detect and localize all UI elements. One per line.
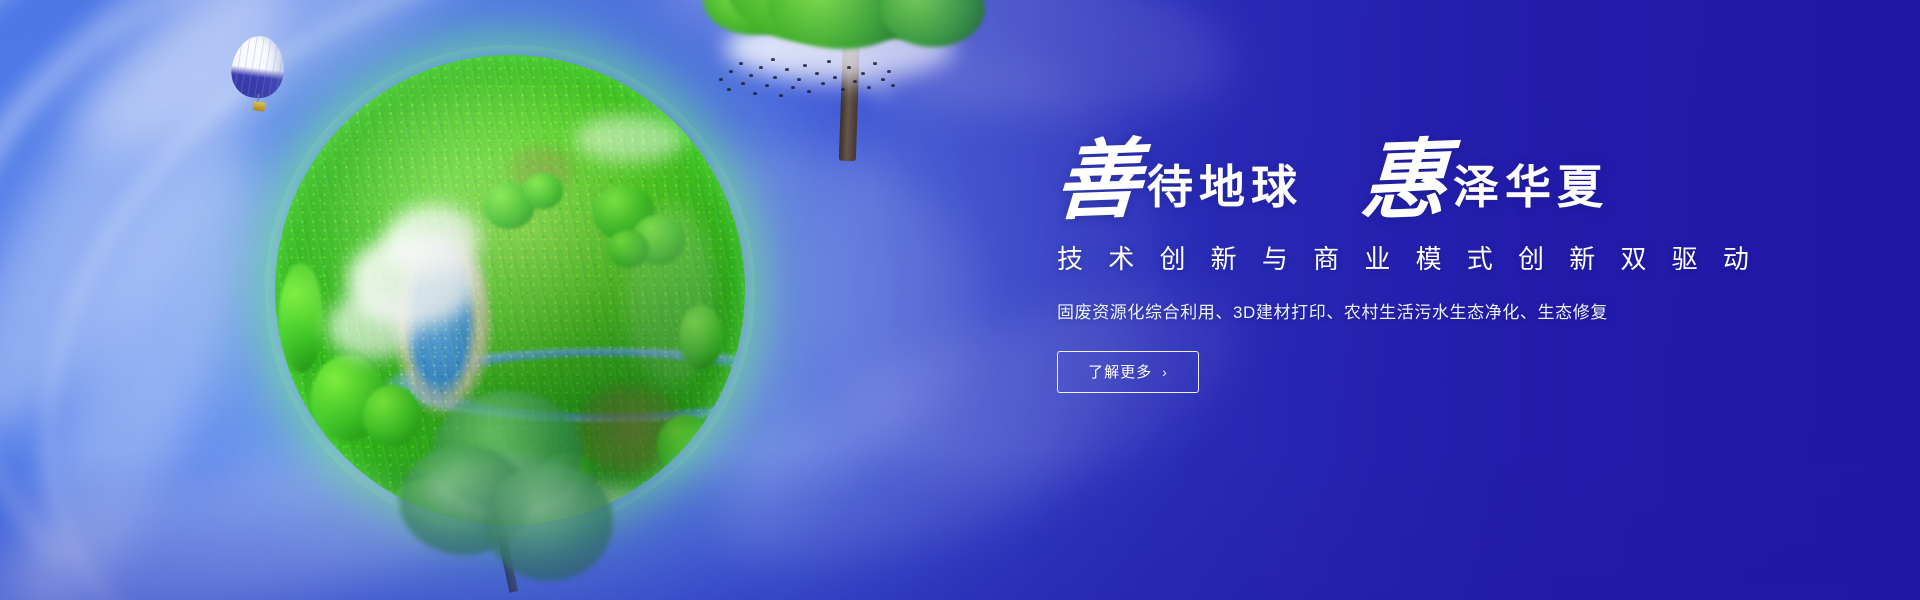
cloud-wisp xyxy=(0,128,301,600)
tree-canopy xyxy=(485,463,613,581)
globe-cloud xyxy=(575,115,685,163)
tree-clump xyxy=(657,415,713,475)
chevron-right-icon: › xyxy=(1162,364,1168,380)
globe-cloud xyxy=(327,293,419,359)
headline-char-shan: 善 xyxy=(1053,138,1146,224)
balloon-basket xyxy=(252,101,265,111)
globe-cloud xyxy=(385,205,481,275)
tree-clump xyxy=(523,173,563,209)
headline-phrase-daidiqiu: 待地球 xyxy=(1143,165,1303,223)
hot-air-balloon xyxy=(232,36,284,124)
hero-content: 善 待地球 惠 泽华夏 技 术 创 新 与 商 业 模 式 创 新 双 驱 动 … xyxy=(1055,140,1755,393)
headline-phrase-zehuaxia: 泽华夏 xyxy=(1449,165,1609,223)
balloon-ribs xyxy=(228,33,287,101)
learn-more-button[interactable]: 了解更多 › xyxy=(1057,351,1199,393)
silhouette-tree xyxy=(393,385,623,600)
hero-banner: 善 待地球 惠 泽华夏 技 术 创 新 与 商 业 模 式 创 新 双 驱 动 … xyxy=(0,0,1920,600)
tree-clump xyxy=(279,263,323,373)
learn-more-label: 了解更多 xyxy=(1088,361,1152,382)
green-earth-globe xyxy=(275,55,745,525)
hero-description: 固废资源化综合利用、3D建材打印、农村生活污水生态净化、生态修复 xyxy=(1057,298,1755,323)
globe-cloud xyxy=(625,205,715,385)
page-title: 善 待地球 惠 泽华夏 xyxy=(1055,140,1755,223)
headline-char-hui: 惠 xyxy=(1359,138,1452,224)
bird-flock xyxy=(715,52,895,108)
hero-subtitle: 技 术 创 新 与 商 业 模 式 创 新 双 驱 动 xyxy=(1057,239,1755,276)
